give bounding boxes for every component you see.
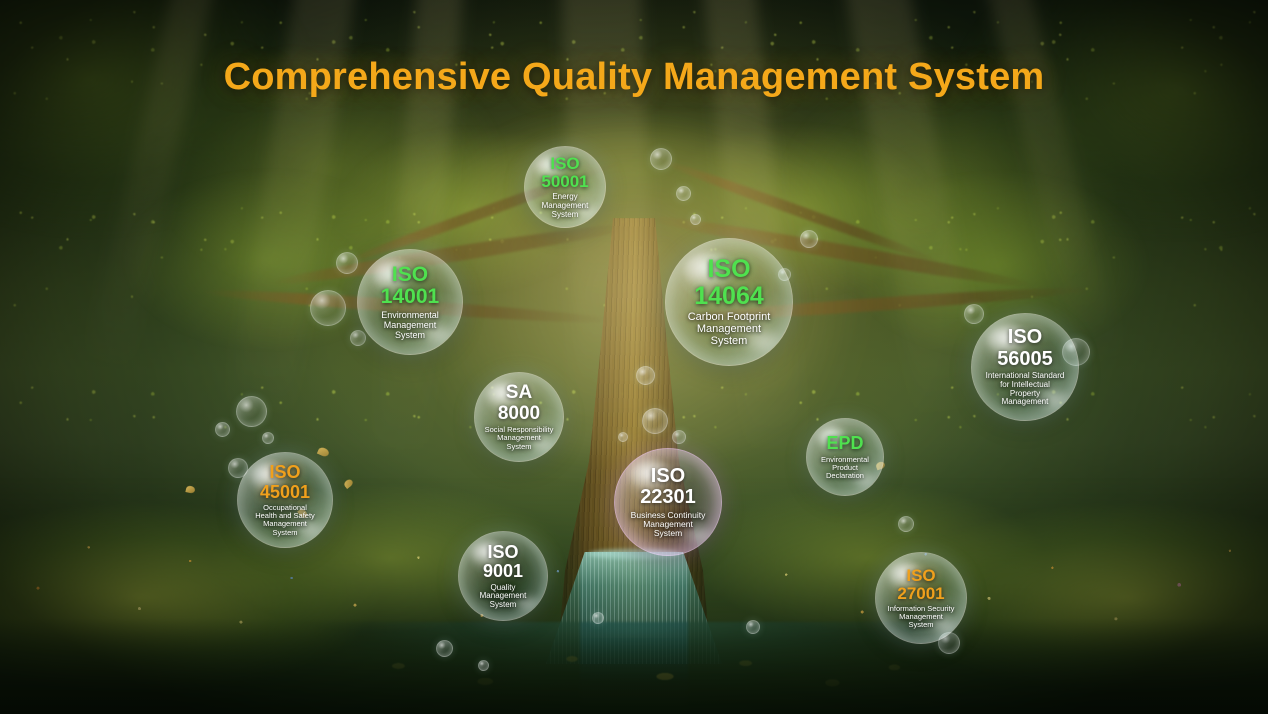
- cert-desc-line: System: [480, 601, 527, 610]
- certification-bubble-sa-8000[interactable]: SA 8000 Social Responsibility Management…: [474, 372, 564, 462]
- cert-desc-line: Declaration: [821, 472, 869, 480]
- cert-description: Information Security Management System: [882, 605, 961, 629]
- cert-code: ISO 22301: [640, 466, 696, 509]
- decorative-bubble: [746, 620, 760, 634]
- cert-code-line2: 8000: [498, 404, 540, 425]
- certification-bubble-iso-14001[interactable]: ISO 14001 Environmental Management Syste…: [357, 249, 463, 355]
- decorative-bubble: [436, 640, 453, 657]
- cert-desc-line: System: [381, 331, 439, 341]
- page-title: Comprehensive Quality Management System: [0, 56, 1268, 99]
- decorative-bubble: [636, 366, 655, 385]
- cert-code-line1: ISO: [997, 327, 1053, 349]
- cert-description: Carbon Footprint Management System: [682, 312, 777, 348]
- cert-code-line2: 14064: [694, 283, 764, 310]
- cert-code-line1: EPD: [826, 434, 863, 453]
- cert-description: International Standard for Intellectual …: [980, 372, 1071, 407]
- cert-code: SA 8000: [498, 383, 540, 424]
- decorative-bubble: [618, 432, 628, 442]
- cert-code: ISO 14001: [381, 264, 439, 309]
- decorative-bubble: [690, 214, 701, 225]
- cert-code: ISO 27001: [897, 567, 944, 604]
- poster-canvas: Comprehensive Quality Management System …: [0, 0, 1268, 714]
- decorative-bubble: [650, 148, 672, 170]
- cert-description: Social Responsibility Management System: [479, 426, 560, 450]
- cert-code: ISO 50001: [541, 155, 588, 192]
- certification-bubble-iso-56005[interactable]: ISO 56005 International Standard for Int…: [971, 313, 1079, 421]
- cert-desc-line: Management: [986, 398, 1065, 407]
- cert-desc-line: System: [255, 529, 315, 537]
- decorative-bubble: [898, 516, 914, 532]
- cert-description: Quality Management System: [474, 584, 533, 610]
- certification-bubble-iso-14064[interactable]: ISO 14064 Carbon Footprint Management Sy…: [665, 238, 793, 366]
- decorative-bubble: [236, 396, 267, 427]
- cert-desc-line: System: [888, 621, 955, 629]
- cert-desc-line: System: [542, 211, 589, 220]
- cert-code: ISO 14064: [694, 256, 764, 310]
- decorative-bubble: [800, 230, 818, 248]
- cert-code-line2: 45001: [260, 483, 310, 502]
- cert-code: ISO 9001: [483, 543, 523, 582]
- cert-code-line2: 9001: [483, 562, 523, 581]
- certification-bubble-iso-45001[interactable]: ISO 45001 Occupational Health and Safety…: [237, 452, 333, 548]
- decorative-bubble: [478, 660, 489, 671]
- cert-description: Energy Management System: [536, 193, 595, 219]
- foreground-grass: [0, 618, 1268, 714]
- certification-bubble-iso-27001[interactable]: ISO 27001 Information Security Managemen…: [875, 552, 967, 644]
- certification-bubble-iso-50001[interactable]: ISO 50001 Energy Management System: [524, 146, 606, 228]
- cert-code-line2: 22301: [640, 487, 696, 509]
- cert-description: Environmental Product Declaration: [815, 456, 875, 480]
- cert-description: Business Continuity Management System: [625, 511, 712, 539]
- cert-code-line1: ISO: [640, 466, 696, 488]
- cert-code-line1: ISO: [260, 463, 310, 482]
- cert-code-line1: ISO: [381, 264, 439, 287]
- cert-code-line1: ISO: [483, 543, 523, 562]
- decorative-bubble: [676, 186, 691, 201]
- decorative-bubble: [310, 290, 346, 326]
- cert-description: Occupational Health and Safety Managemen…: [249, 504, 321, 536]
- certification-bubble-iso-9001[interactable]: ISO 9001 Quality Management System: [458, 531, 548, 621]
- cert-code-line2: 50001: [541, 173, 588, 191]
- cert-desc-line: System: [688, 336, 771, 348]
- certification-bubble-epd[interactable]: EPD Environmental Product Declaration: [806, 418, 884, 496]
- decorative-bubble: [215, 422, 230, 437]
- cert-code-line1: ISO: [694, 256, 764, 283]
- cert-description: Environmental Management System: [375, 311, 445, 340]
- decorative-bubble: [592, 612, 604, 624]
- decorative-bubble: [642, 408, 668, 434]
- cert-code: EPD: [826, 434, 863, 453]
- cert-code-line1: ISO: [541, 155, 588, 173]
- cert-desc-line: System: [631, 529, 706, 538]
- cert-desc-line: System: [485, 443, 554, 451]
- decorative-bubble: [350, 330, 366, 346]
- cert-code-line2: 14001: [381, 286, 439, 309]
- cert-code-line2: 27001: [897, 585, 944, 603]
- cert-code: ISO 56005: [997, 327, 1053, 370]
- decorative-bubble: [262, 432, 274, 444]
- cert-code-line1: SA: [498, 383, 540, 404]
- decorative-bubble: [672, 430, 686, 444]
- decorative-bubble: [336, 252, 358, 274]
- certification-bubble-iso-22301[interactable]: ISO 22301 Business Continuity Management…: [614, 448, 722, 556]
- cert-code: ISO 45001: [260, 463, 310, 502]
- cert-code-line1: ISO: [897, 567, 944, 585]
- decorative-bubble: [964, 304, 984, 324]
- cert-code-line2: 56005: [997, 349, 1053, 371]
